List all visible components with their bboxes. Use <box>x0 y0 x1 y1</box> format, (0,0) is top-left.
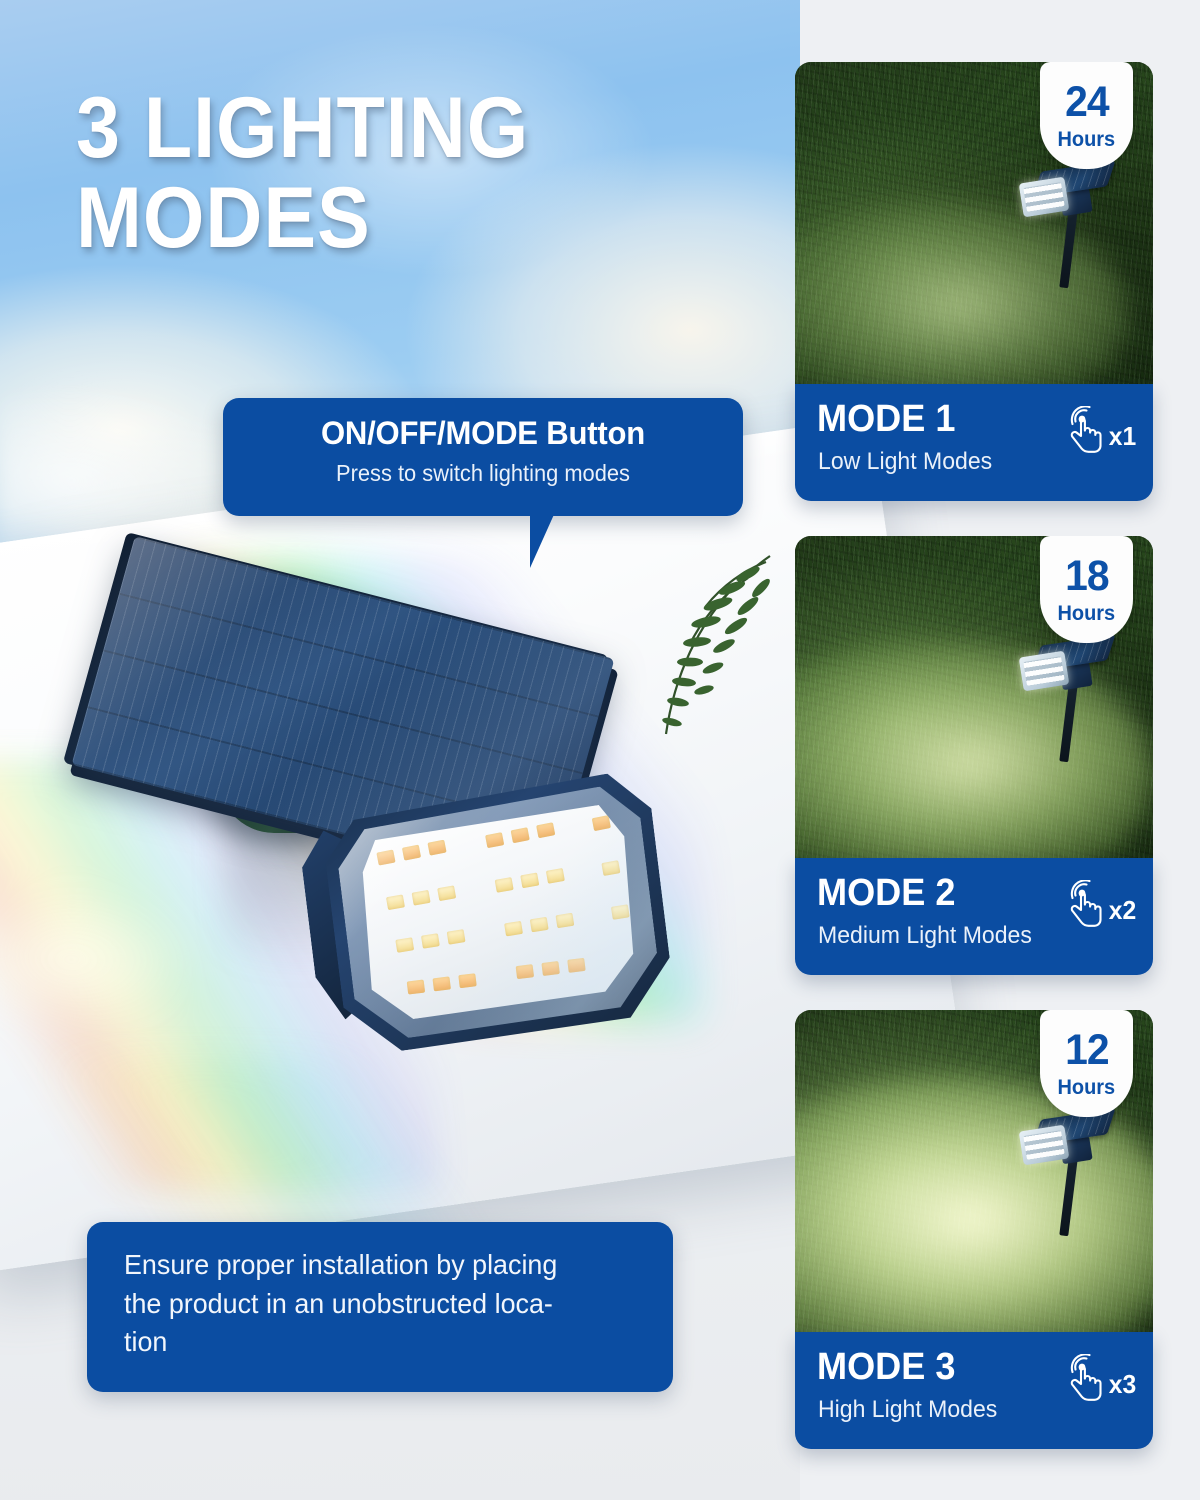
headline-line-2: MODES <box>76 178 665 260</box>
mini-spotlight-product <box>1017 160 1127 290</box>
led-head <box>319 769 677 1057</box>
hours-unit: Hours <box>1058 1077 1116 1098</box>
mode-label-bar: MODE 1 Low Light Modes x1 <box>795 384 1153 501</box>
press-count: x3 <box>1109 1371 1136 1397</box>
headline-line-1: 3 LIGHTING <box>76 88 665 170</box>
mini-spotlight-product <box>1017 634 1127 764</box>
hours-badge: 18 Hours <box>1040 536 1133 643</box>
hours-value: 18 <box>1065 555 1109 598</box>
ground-stake <box>1059 1158 1077 1237</box>
mode-label-bar: MODE 2 Medium Light Modes x2 <box>795 858 1153 975</box>
mode-title: MODE 1 <box>817 398 955 441</box>
mode-card: 24 Hours MODE 1 Low Light Modes x1 <box>795 62 1153 501</box>
ground-stake <box>1059 210 1077 289</box>
ground-stake <box>1059 684 1077 763</box>
mode-photo: 12 Hours <box>795 1010 1153 1332</box>
callout-title: ON/OFF/MODE Button <box>231 415 735 452</box>
callout-subtitle: Press to switch lighting modes <box>236 460 730 487</box>
mode-card: 18 Hours MODE 2 Medium Light Modes x2 <box>795 536 1153 975</box>
tap-gesture-icon <box>1060 406 1106 458</box>
installation-note-box: Ensure proper installation by placing th… <box>87 1222 673 1392</box>
tap-gesture-icon <box>1060 1354 1106 1406</box>
mode-subtitle: Low Light Modes <box>818 448 992 476</box>
installation-note-text: Ensure proper installation by placing th… <box>124 1246 626 1362</box>
mode-label-bar: MODE 3 High Light Modes x3 <box>795 1332 1153 1449</box>
hours-value: 12 <box>1065 1029 1109 1072</box>
hours-unit: Hours <box>1058 129 1116 150</box>
press-count: x2 <box>1109 897 1136 923</box>
press-count: x1 <box>1109 423 1136 449</box>
hours-unit: Hours <box>1058 603 1116 624</box>
mode-subtitle: High Light Modes <box>818 1396 997 1424</box>
press-indicator: x3 <box>1060 1354 1137 1406</box>
press-indicator: x1 <box>1060 406 1137 458</box>
infographic-stage: 3 LIGHTING MODES ON/OFF/MODE Button Pres… <box>0 0 1200 1500</box>
mode-title: MODE 3 <box>817 1346 955 1389</box>
press-indicator: x2 <box>1060 880 1137 932</box>
mode-subtitle: Medium Light Modes <box>818 922 1032 950</box>
mode-card: 12 Hours MODE 3 High Light Modes x3 <box>795 1010 1153 1449</box>
mode-photo: 24 Hours <box>795 62 1153 384</box>
hours-badge: 24 Hours <box>1040 62 1133 169</box>
hours-value: 24 <box>1065 81 1109 124</box>
callout-bubble: ON/OFF/MODE Button Press to switch light… <box>223 398 743 516</box>
mini-spotlight-product <box>1017 1108 1127 1238</box>
page-title: 3 LIGHTING MODES <box>76 88 665 259</box>
mode-photo: 18 Hours <box>795 536 1153 858</box>
product-photo-solar-light <box>105 530 745 1090</box>
mini-led-head <box>1019 177 1070 218</box>
hours-badge: 12 Hours <box>1040 1010 1133 1117</box>
mode-title: MODE 2 <box>817 872 955 915</box>
callout-pointer <box>530 510 570 568</box>
mini-led-head <box>1019 1125 1070 1166</box>
mini-led-head <box>1019 651 1070 692</box>
tap-gesture-icon <box>1060 880 1106 932</box>
